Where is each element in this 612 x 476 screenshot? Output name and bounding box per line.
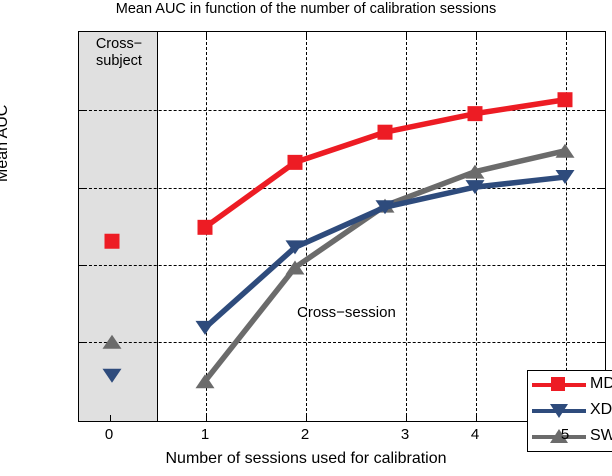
tickmark-x-top-1 bbox=[206, 32, 207, 38]
tickmark-y-right-0.75 bbox=[599, 342, 605, 343]
legend-sample-xdawn bbox=[528, 398, 590, 422]
tickmark-y-right-0.9 bbox=[599, 110, 605, 111]
tickmark-x-top-2 bbox=[306, 32, 307, 38]
gridline-horizontal-0.9 bbox=[79, 110, 605, 111]
tickmark-y-0.8 bbox=[79, 265, 85, 266]
gridline-vertical-2 bbox=[306, 32, 307, 421]
legend-sample-swlda bbox=[528, 424, 590, 448]
tickmark-y-0.75 bbox=[79, 342, 85, 343]
gridline-vertical-4 bbox=[476, 32, 477, 421]
legend-entry-swlda: SWLDA bbox=[528, 423, 612, 449]
chart-title: Mean AUC in function of the number of ca… bbox=[0, 1, 612, 17]
tickmark-x-top-5 bbox=[566, 32, 567, 38]
tickmark-y-0.85 bbox=[79, 188, 85, 189]
gridline-vertical-5 bbox=[566, 32, 567, 421]
y-axis-label: Mean AUC bbox=[0, 105, 12, 182]
xtick-label-0: 0 bbox=[105, 426, 113, 443]
cross-subject-label-line1: Cross− bbox=[81, 36, 157, 53]
legend-label-xdawn: XDAWN bbox=[590, 401, 612, 419]
x-axis-label: Number of sessions used for calibration bbox=[0, 450, 612, 468]
annotation-cross-session: Cross−session bbox=[297, 304, 396, 321]
plot-area: Cross− subject bbox=[78, 31, 606, 422]
cross-subject-region: Cross− subject bbox=[79, 32, 158, 421]
xtick-label-1: 1 bbox=[201, 426, 209, 443]
legend-sample-mdm bbox=[528, 372, 590, 396]
tickmark-x-top-4 bbox=[476, 32, 477, 38]
square-icon bbox=[551, 377, 565, 391]
tickmark-x-3 bbox=[406, 415, 407, 421]
triangle-down-icon bbox=[550, 404, 568, 418]
legend-label-swlda: SWLDA bbox=[590, 427, 612, 445]
tickmark-x-1 bbox=[206, 415, 207, 421]
gridline-horizontal-0.8 bbox=[79, 265, 605, 266]
legend-entry-mdm: MDM bbox=[528, 371, 612, 397]
gridline-horizontal-0.75 bbox=[79, 342, 605, 343]
tickmark-x-4 bbox=[476, 415, 477, 421]
tickmark-x-top-3 bbox=[406, 32, 407, 38]
xtick-label-4: 4 bbox=[471, 426, 479, 443]
legend-label-mdm: MDM bbox=[590, 375, 612, 393]
tickmark-y-right-0.8 bbox=[599, 265, 605, 266]
gridline-vertical-1 bbox=[206, 32, 207, 421]
gridline-horizontal-0.85 bbox=[79, 188, 605, 189]
cross-subject-label-line2: subject bbox=[81, 53, 157, 70]
tickmark-x-0 bbox=[110, 415, 111, 421]
tickmark-x-2 bbox=[306, 415, 307, 421]
gridline-vertical-3 bbox=[406, 32, 407, 421]
legend-entry-xdawn: XDAWN bbox=[528, 397, 612, 423]
cross-subject-region-label: Cross− subject bbox=[81, 36, 157, 70]
xtick-label-5: 5 bbox=[561, 426, 569, 443]
xtick-label-2: 2 bbox=[301, 426, 309, 443]
tickmark-y-right-0.85 bbox=[599, 188, 605, 189]
xtick-label-3: 3 bbox=[401, 426, 409, 443]
tickmark-y-0.9 bbox=[79, 110, 85, 111]
chart-figure: Mean AUC in function of the number of ca… bbox=[0, 0, 612, 476]
chart-legend: MDM XDAWN SWLDA bbox=[527, 370, 612, 452]
